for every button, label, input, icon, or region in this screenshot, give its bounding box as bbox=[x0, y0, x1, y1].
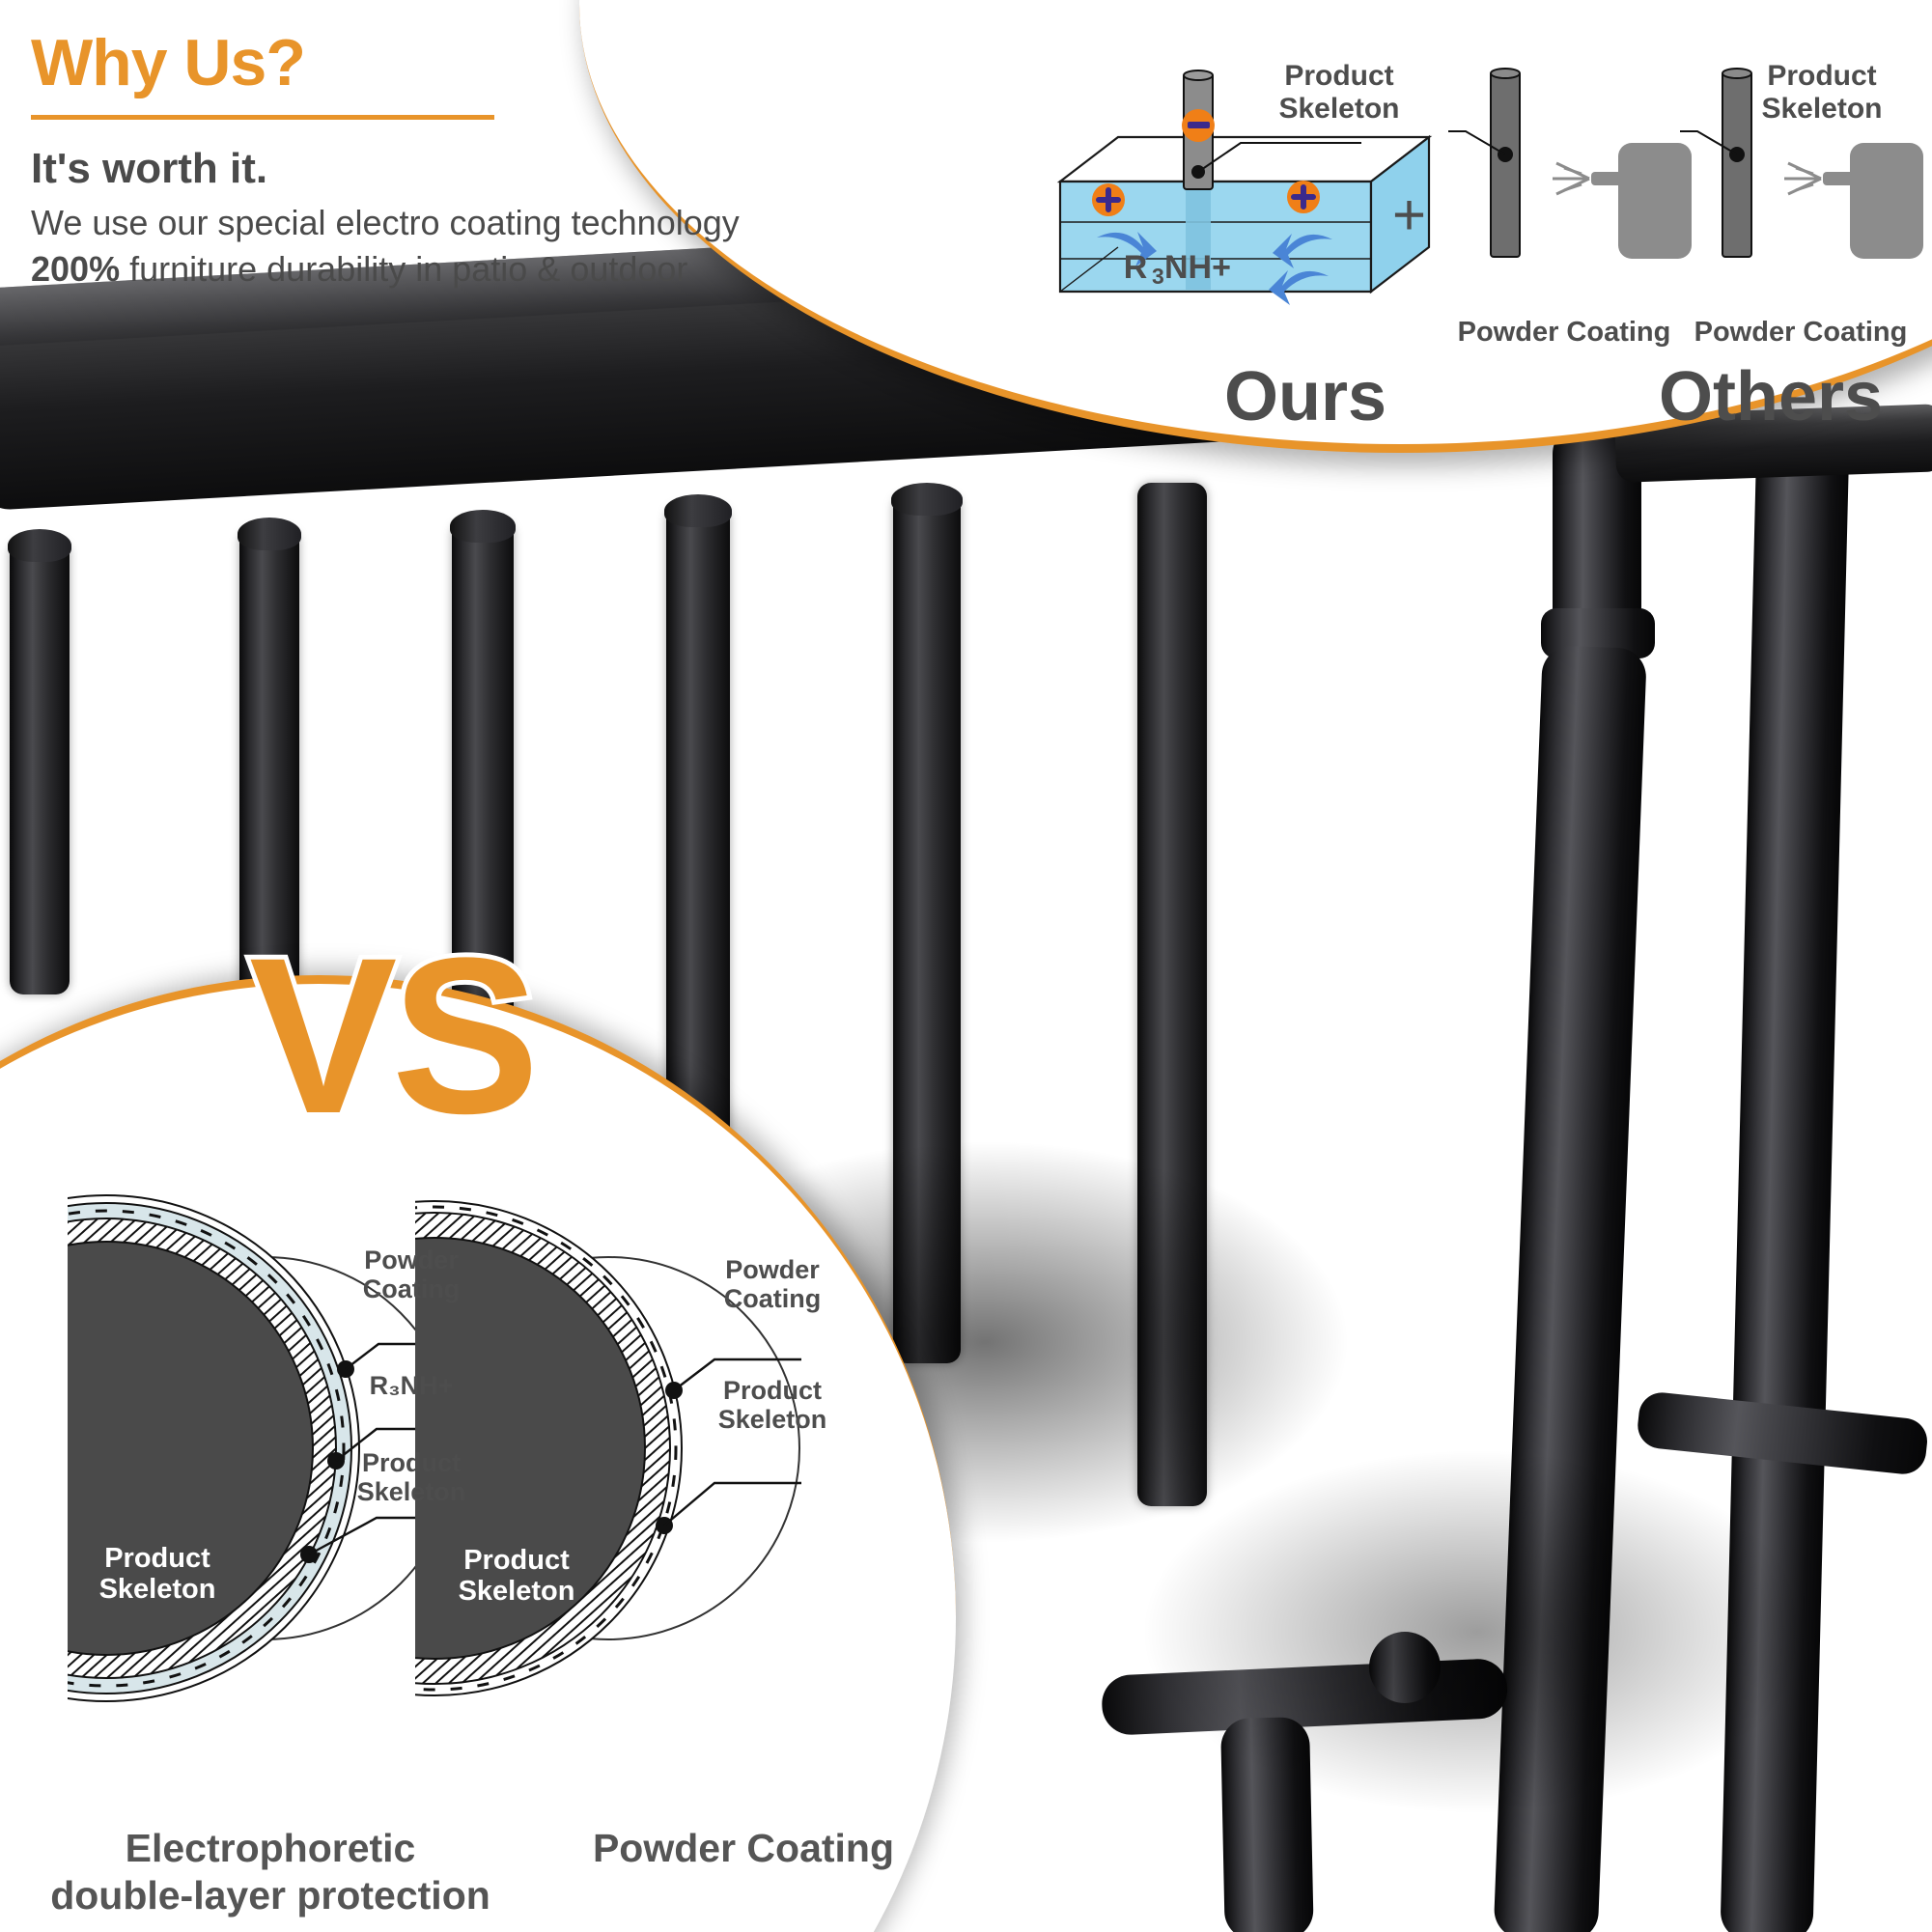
electrophoretic-caption: Electrophoretic double-layer protection bbox=[19, 1825, 521, 1919]
powder-core-label: Product Skeleton bbox=[415, 1545, 618, 1608]
electrophoretic-callout-powder: Powder Coating bbox=[315, 1246, 508, 1303]
powder-callout-skeleton: Product Skeleton bbox=[676, 1376, 869, 1434]
powder-coating-caption: Powder Coating bbox=[541, 1825, 946, 1872]
svg-text:NH+: NH+ bbox=[1164, 249, 1231, 286]
ours-heading: Ours bbox=[1224, 357, 1386, 436]
spindle-cap bbox=[450, 510, 516, 543]
ours-plus-operator: + bbox=[1392, 182, 1426, 248]
electrophoretic-core-label: Product Skeleton bbox=[56, 1543, 259, 1606]
spindle-cap bbox=[664, 494, 732, 527]
others-heading: Others bbox=[1659, 357, 1883, 436]
others-skeleton-label: Product Skeleton bbox=[1711, 60, 1932, 125]
header-subtitle: It's worth it. bbox=[31, 145, 649, 194]
chair-spindle bbox=[666, 506, 730, 1162]
vs-badge: VS bbox=[249, 925, 534, 1147]
others-powder-coating-label: Powder Coating bbox=[1641, 317, 1932, 348]
ours-solution-label: R bbox=[1124, 249, 1148, 286]
durability-text: furniture durability in patio & outdoor bbox=[120, 249, 687, 289]
header-line-1: We use our special electro coating techn… bbox=[31, 200, 649, 246]
spindle-cap bbox=[891, 483, 963, 516]
photo-shadow bbox=[1139, 1448, 1815, 1815]
powder-callout-coating: Powder Coating bbox=[676, 1255, 869, 1313]
header-line-2: 200% furniture durability in patio & out… bbox=[31, 246, 649, 293]
spindle-cap bbox=[8, 529, 71, 562]
chair-spindle bbox=[10, 541, 70, 994]
electrophoretic-caption-line2: double-layer protection bbox=[19, 1872, 521, 1919]
electrophoretic-caption-line1: Electrophoretic bbox=[19, 1825, 521, 1872]
page-title: Why Us? bbox=[31, 29, 649, 98]
electrophoretic-callout-skeleton: Product Skeleton bbox=[315, 1448, 508, 1506]
ours-skeleton-label: Product Skeleton bbox=[1228, 60, 1450, 125]
header-block: Why Us? It's worth it. We use our specia… bbox=[31, 29, 649, 292]
spindle-cap bbox=[238, 518, 301, 550]
electrophoretic-callout-solution: R₃NH+ bbox=[315, 1371, 508, 1400]
svg-text:3: 3 bbox=[1152, 264, 1164, 289]
durability-percent: 200% bbox=[31, 249, 120, 289]
title-underline bbox=[31, 115, 494, 120]
infographic-canvas: R 3 NH+ Product Skeleton + Powder Coatin… bbox=[0, 0, 1932, 1932]
